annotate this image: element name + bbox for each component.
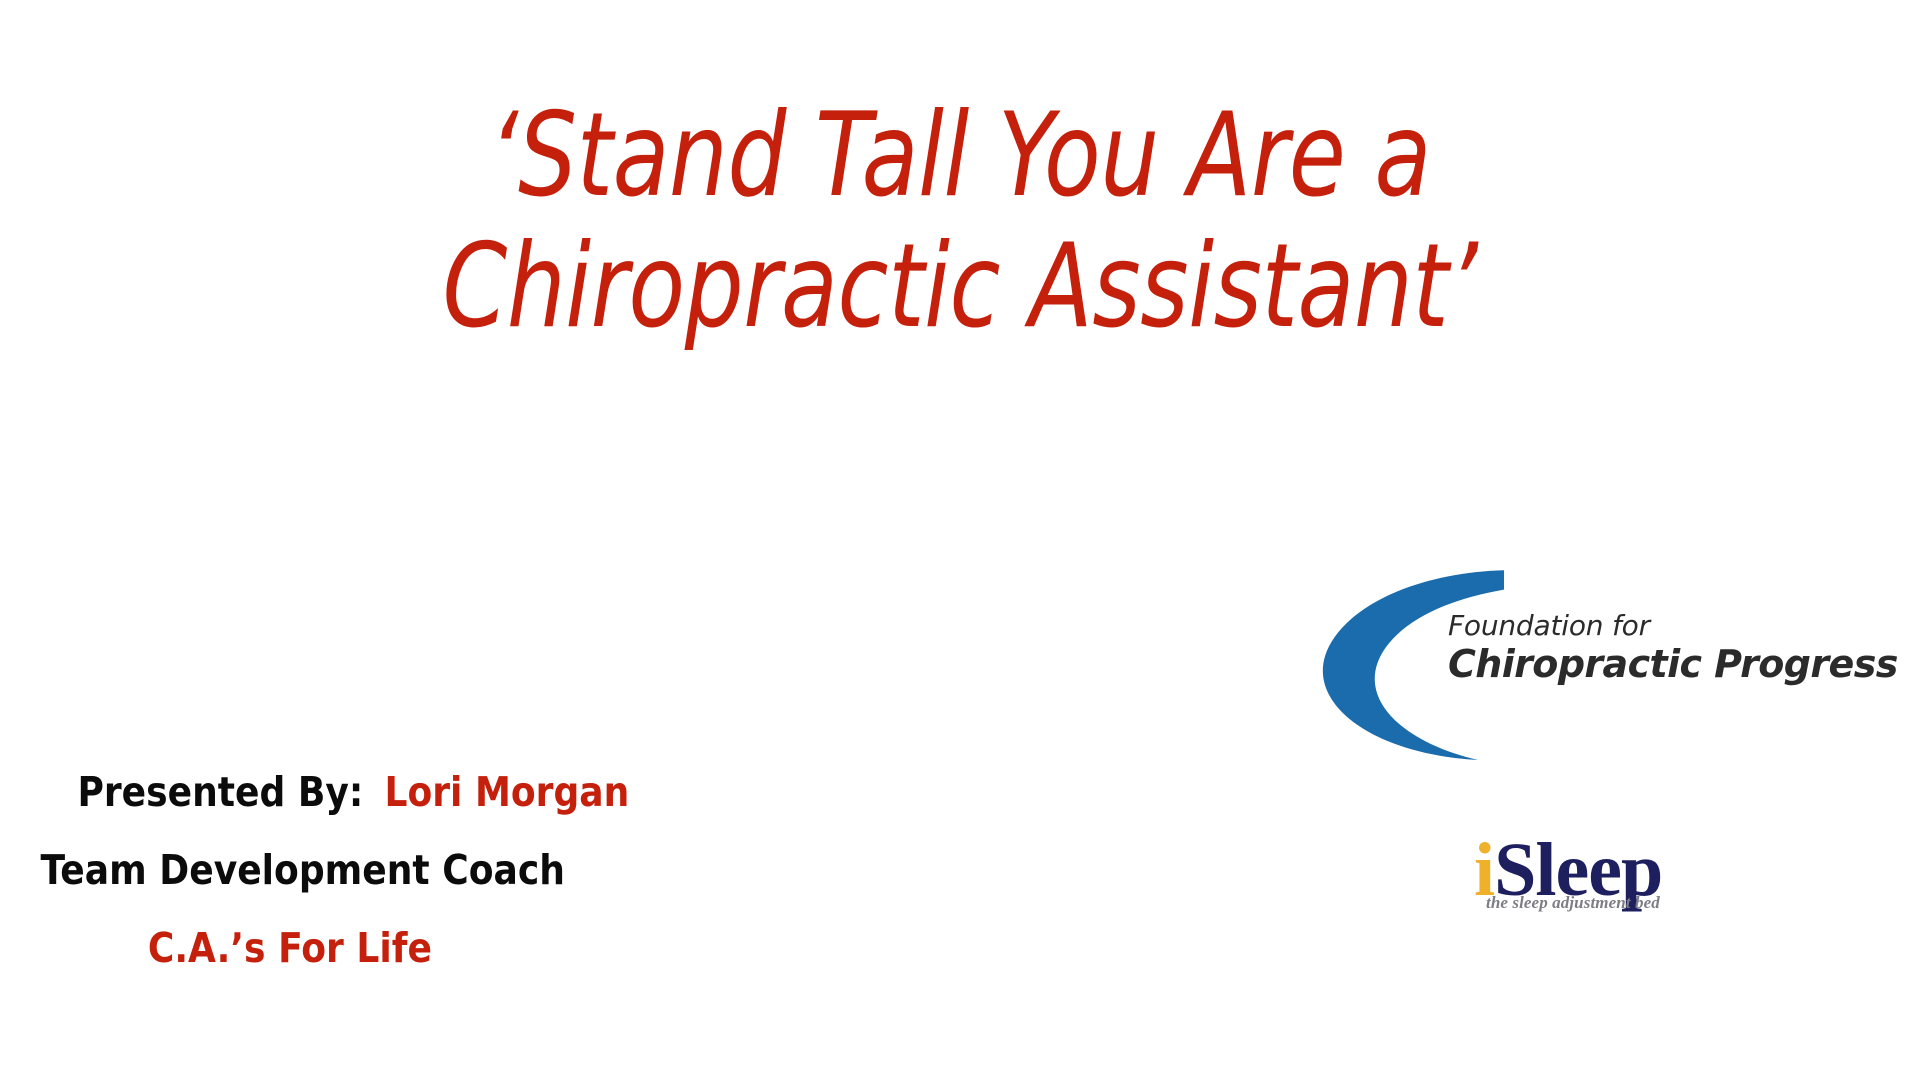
isleep-tagline: the sleep adjustment bed bbox=[1486, 894, 1660, 911]
presenter-company-row: C.A.’s For Life bbox=[0, 928, 616, 1006]
fcp-line-2: Chiropractic Progress bbox=[1448, 643, 1808, 686]
slide-title-line-2: Chiropractic Assistant’ bbox=[328, 221, 1592, 352]
presented-by-row: Presented By:Lori Morgan bbox=[0, 772, 616, 850]
presenter-name: Lori Morgan bbox=[384, 768, 629, 816]
fcp-line-1: Foundation for bbox=[1448, 612, 1808, 640]
slide-title: ‘Stand Tall You Are a Chiropractic Assis… bbox=[328, 90, 1592, 352]
slide-title-line-1: ‘Stand Tall You Are a bbox=[328, 90, 1592, 221]
fcp-wordmark: Foundation for Chiropractic Progress bbox=[1448, 612, 1808, 686]
isleep-logo: iSleep the sleep adjustment bed bbox=[1474, 832, 1714, 936]
presenter-company: C.A.’s For Life bbox=[148, 924, 432, 972]
presentation-slide: ‘Stand Tall You Are a Chiropractic Assis… bbox=[0, 0, 1920, 1080]
foundation-chiropractic-progress-logo: Foundation for Chiropractic Progress bbox=[1308, 566, 1808, 762]
presenter-role-row: Team Development Coach bbox=[0, 850, 616, 928]
presenter-info-block: Presented By:Lori Morgan Team Developmen… bbox=[0, 772, 616, 1006]
presented-by-label: Presented By: bbox=[77, 768, 363, 816]
presenter-role: Team Development Coach bbox=[40, 846, 564, 894]
